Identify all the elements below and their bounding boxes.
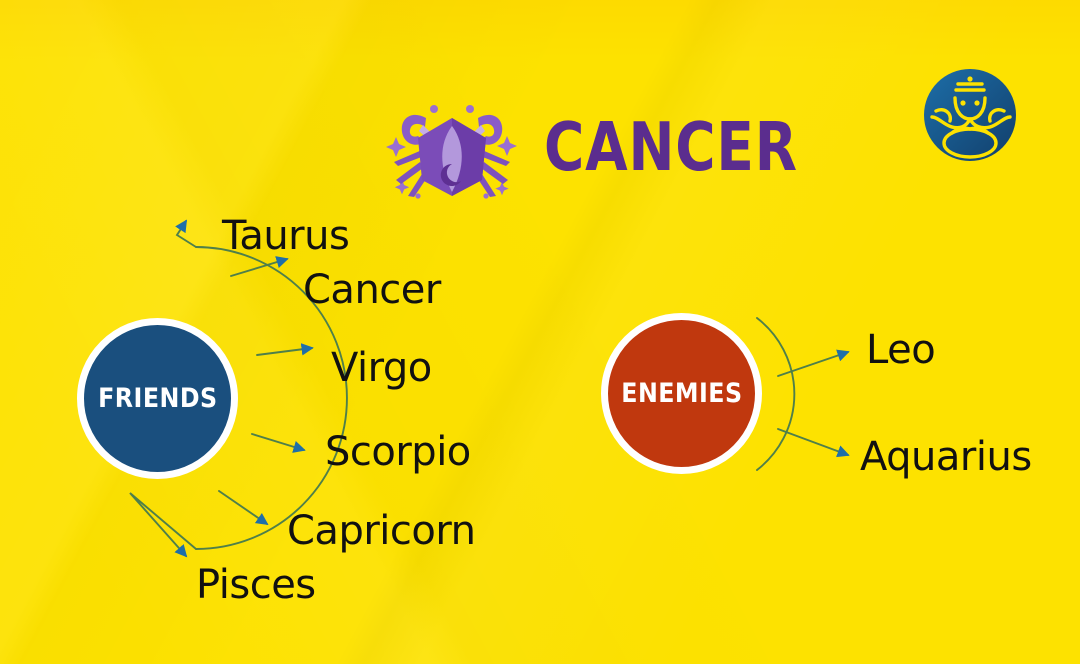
friend-label-virgo: Virgo: [331, 348, 432, 388]
enemies-branch-leo: [778, 352, 848, 376]
crab-icon: [382, 92, 522, 202]
friends-branch-taurus: [177, 221, 196, 247]
enemies-hub[interactable]: ENEMIES: [601, 313, 762, 474]
friends-branch-capricorn: [219, 491, 267, 524]
friend-label-capricorn: Capricorn: [287, 511, 475, 551]
friends-branch-scorpio: [252, 434, 304, 450]
page-header: CANCER: [382, 92, 822, 202]
enemies-hub-label: ENEMIES: [621, 378, 742, 409]
friends-branch-cancer: [231, 259, 287, 276]
friends-hub-label: FRIENDS: [98, 383, 217, 414]
enemies-branch-aquarius: [778, 429, 848, 455]
friend-label-cancer: Cancer: [303, 270, 441, 310]
friends-hub[interactable]: FRIENDS: [77, 318, 238, 479]
enemies-arc: [757, 318, 794, 470]
ganesha-circle-logo: [922, 67, 1018, 163]
friend-label-pisces: Pisces: [196, 565, 316, 605]
friends-branch-virgo: [257, 348, 312, 355]
friend-label-scorpio: Scorpio: [325, 432, 471, 472]
zodiac-infographic: CANCER FRIENDS: [0, 0, 1080, 664]
friend-label-taurus: Taurus: [222, 216, 349, 256]
enemy-label-aquarius: Aquarius: [860, 437, 1032, 477]
friends-branch-pisces: [130, 493, 196, 556]
enemy-label-leo: Leo: [866, 330, 935, 370]
page-title: CANCER: [544, 114, 798, 181]
